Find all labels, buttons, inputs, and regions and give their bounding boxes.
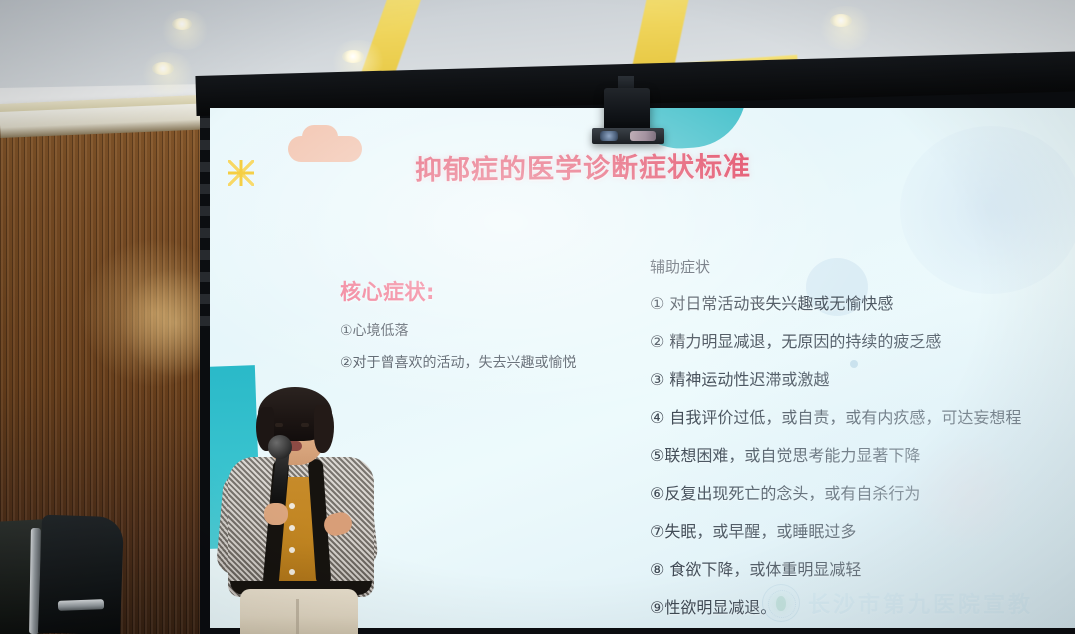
chair-chrome-frame bbox=[58, 599, 104, 611]
presenter-trousers bbox=[240, 589, 358, 634]
core-symptoms-heading: 核心症状: bbox=[340, 276, 630, 306]
core-symptom-item: ②对于曾喜欢的活动，失去兴趣或愉悦 bbox=[340, 352, 630, 372]
microphone-head-icon bbox=[268, 435, 292, 459]
audience-chair bbox=[38, 515, 124, 634]
auxiliary-symptoms-heading: 辅助症状 bbox=[650, 256, 1075, 277]
core-symptoms-column: 核心症状: ①心境低落 ②对于曾喜欢的活动，失去兴趣或愉悦 bbox=[340, 276, 630, 384]
downlight bbox=[152, 62, 174, 75]
yellow-star-icon bbox=[228, 160, 254, 186]
jacket-button bbox=[289, 503, 295, 509]
auxiliary-symptom-item: ⑧ 食欲下降，或体重明显减轻 bbox=[650, 556, 1075, 580]
presenter-hair-side bbox=[314, 405, 334, 453]
watermark-text: 长沙市第九医院宣教 bbox=[808, 587, 1033, 619]
auxiliary-symptom-item: ② 精力明显减退，无原因的持续的疲乏感 bbox=[650, 328, 1075, 352]
projector-lens-icon bbox=[600, 131, 618, 141]
slide-watermark: 长沙市第九医院宣教 bbox=[762, 584, 1033, 622]
auxiliary-symptom-item: ⑥反复出现死亡的念头，或有自杀行为 bbox=[650, 480, 1075, 504]
pink-cloud-decoration bbox=[288, 136, 362, 162]
auxiliary-symptom-item: ④ 自我评价过低，或自责，或有内疚感，可达妄想程 bbox=[650, 404, 1075, 428]
presenter-figure bbox=[216, 385, 384, 634]
auxiliary-symptom-item: ③ 精神运动性迟滞或激越 bbox=[650, 366, 1075, 390]
light-halo bbox=[818, 6, 874, 50]
jacket-button bbox=[289, 569, 295, 575]
slide-title: 抑郁症的医学诊断症状标准 bbox=[415, 144, 835, 187]
auxiliary-symptom-item: ⑦失眠，或早醒，或睡眠过多 bbox=[650, 518, 1075, 542]
trouser-seam bbox=[296, 599, 299, 634]
institution-seal-icon bbox=[762, 584, 800, 622]
light-halo bbox=[160, 10, 210, 50]
downlight bbox=[172, 18, 192, 30]
downlight bbox=[342, 50, 364, 63]
jacket-button bbox=[289, 525, 295, 531]
presenter-eye bbox=[301, 423, 309, 427]
jacket-button bbox=[289, 547, 295, 553]
auxiliary-symptom-item: ⑤联想困难，或自觉思考能力显著下降 bbox=[650, 442, 1075, 466]
auxiliary-symptom-item: ① 对日常活动丧失兴趣或无愉快感 bbox=[650, 290, 1075, 314]
presenter-left-hand bbox=[264, 503, 288, 525]
core-symptom-item: ①心境低落 bbox=[340, 320, 630, 340]
downlight bbox=[830, 14, 852, 27]
presenter-eye bbox=[275, 423, 283, 427]
auxiliary-symptoms-column: 辅助症状 ① 对日常活动丧失兴趣或无愉快感 ② 精力明显减退，无原因的持续的疲乏… bbox=[650, 256, 1075, 628]
projector-panel bbox=[630, 131, 656, 141]
screenshot-root: 抑郁症的医学诊断症状标准 核心症状: ①心境低落 ②对于曾喜欢的活动，失去兴趣或… bbox=[0, 0, 1075, 634]
